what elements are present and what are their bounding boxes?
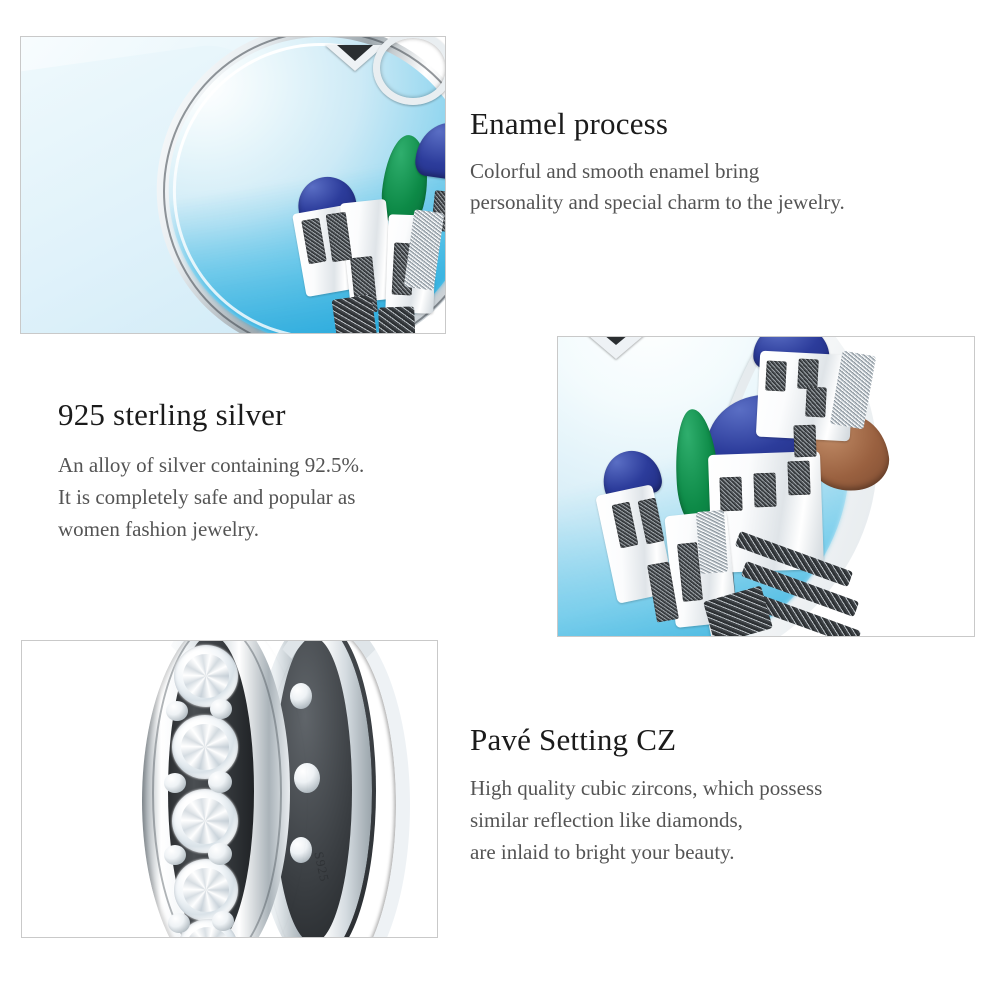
village-photo-stage [558, 337, 974, 636]
window-upper-1 [765, 360, 787, 391]
feature-body-line: are inlaid to bright your beauty. [470, 836, 990, 868]
feature-body-line: It is completely safe and popular as [58, 481, 498, 513]
panel-enamel-photo [20, 36, 446, 334]
feature-text-pave: Pavé Setting CZ High quality cubic zirco… [470, 720, 990, 868]
window-main-3 [787, 461, 810, 496]
feature-text-silver: 925 sterling silver An alloy of silver c… [58, 395, 498, 545]
window-upper-2 [797, 358, 819, 389]
pave-photo-stage: S925 [22, 641, 437, 937]
window-main-1 [719, 477, 742, 512]
ring-edge-highlight [132, 641, 318, 937]
feature-body-pave: High quality cubic zircons, which posses… [470, 772, 990, 868]
enamel-photo-stage [21, 37, 445, 333]
feature-body-line: Colorful and smooth enamel bring [470, 156, 995, 187]
feature-title-enamel: Enamel process [470, 104, 995, 144]
feature-body-line: personality and special charm to the jew… [470, 187, 995, 218]
stairs-lower-2 [378, 306, 416, 333]
feature-body-line: High quality cubic zircons, which posses… [470, 772, 990, 804]
feature-body-silver: An alloy of silver containing 92.5%. It … [58, 449, 498, 545]
feature-text-enamel: Enamel process Colorful and smooth ename… [470, 104, 995, 218]
village-cluster [283, 157, 445, 333]
feature-body-line: An alloy of silver containing 92.5%. [58, 449, 498, 481]
feature-title-silver: 925 sterling silver [58, 395, 498, 435]
window-main-4 [793, 425, 816, 458]
feature-body-line: similar reflection like diamonds, [470, 804, 990, 836]
feature-title-pave: Pavé Setting CZ [470, 720, 990, 760]
feature-body-enamel: Colorful and smooth enamel bring persona… [470, 156, 995, 218]
panel-pave-photo: S925 [21, 640, 438, 938]
window-main-2 [753, 473, 776, 508]
window-upper-3 [805, 386, 827, 417]
feature-body-line: women fashion jewelry. [58, 513, 498, 545]
panel-village-photo [557, 336, 975, 637]
bail-notch [576, 337, 672, 381]
stairs-lower [332, 294, 379, 333]
pave-texture-mid [696, 510, 728, 574]
